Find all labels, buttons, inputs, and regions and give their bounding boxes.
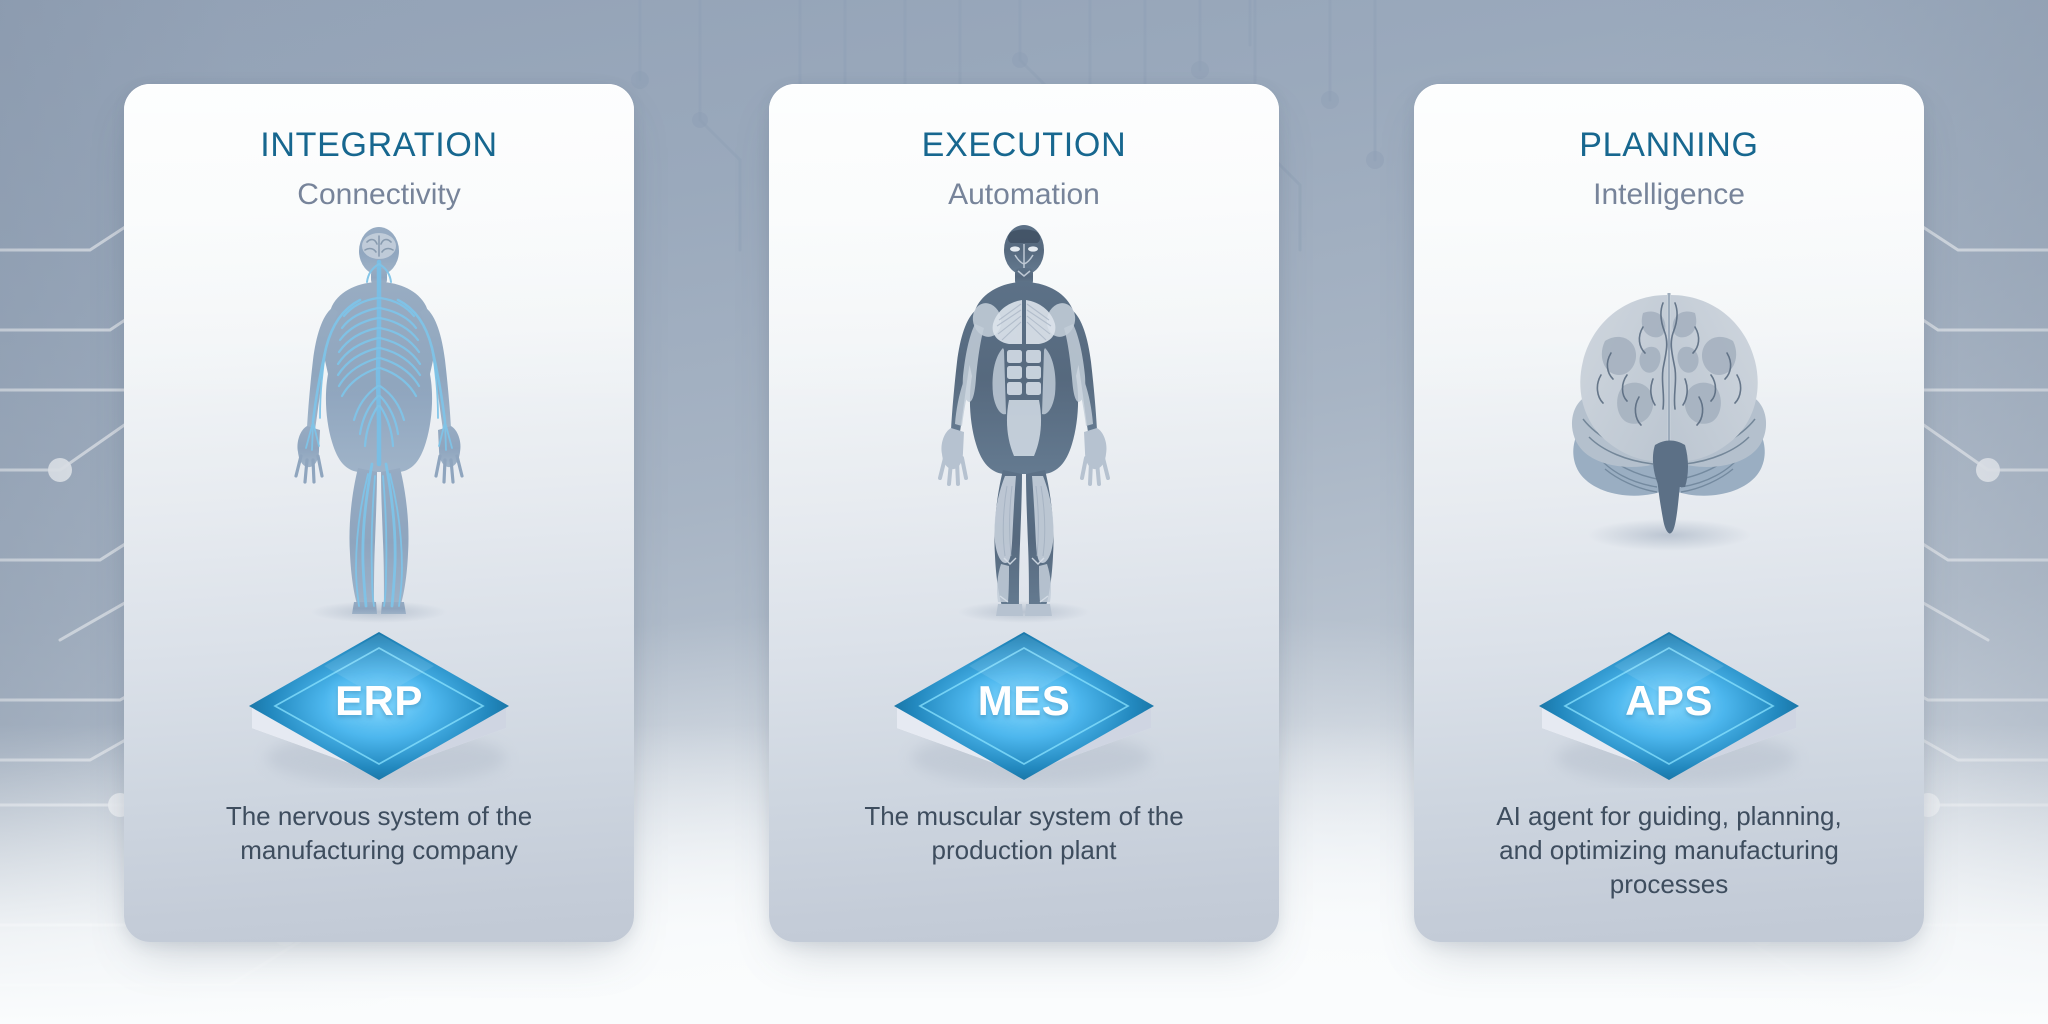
badge-area: APS — [1414, 618, 1924, 788]
card-execution[interactable]: EXECUTION Automation — [769, 84, 1279, 942]
card-integration[interactable]: INTEGRATION Connectivity — [124, 84, 634, 942]
mes-badge[interactable]: MES — [879, 618, 1169, 788]
card-subtitle: Automation — [948, 180, 1100, 210]
card-caption: The nervous system of the manufacturing … — [179, 800, 579, 868]
card-title: PLANNING — [1579, 128, 1758, 162]
card-title: INTEGRATION — [260, 128, 498, 162]
card-caption: The muscular system of the production pl… — [824, 800, 1224, 868]
diamond-plate-icon — [879, 618, 1169, 788]
visual-brain — [1414, 224, 1924, 624]
cards-container: INTEGRATION Connectivity — [0, 0, 2048, 1024]
diamond-plate-icon — [1524, 618, 1814, 788]
nervous-system-figure-icon — [264, 224, 494, 624]
badge-area: MES — [769, 618, 1279, 788]
card-subtitle: Intelligence — [1593, 180, 1745, 210]
card-caption: AI agent for guiding, planning, and opti… — [1469, 800, 1869, 901]
visual-nervous-system — [124, 224, 634, 624]
brain-illustration-icon — [1539, 279, 1799, 569]
diamond-plate-icon — [234, 618, 524, 788]
aps-badge[interactable]: APS — [1524, 618, 1814, 788]
card-planning[interactable]: PLANNING Intelligence — [1414, 84, 1924, 942]
badge-area: ERP — [124, 618, 634, 788]
card-subtitle: Connectivity — [297, 180, 460, 210]
erp-badge[interactable]: ERP — [234, 618, 524, 788]
muscular-system-figure-icon — [909, 224, 1139, 624]
visual-muscular-system — [769, 224, 1279, 624]
card-title: EXECUTION — [922, 128, 1127, 162]
